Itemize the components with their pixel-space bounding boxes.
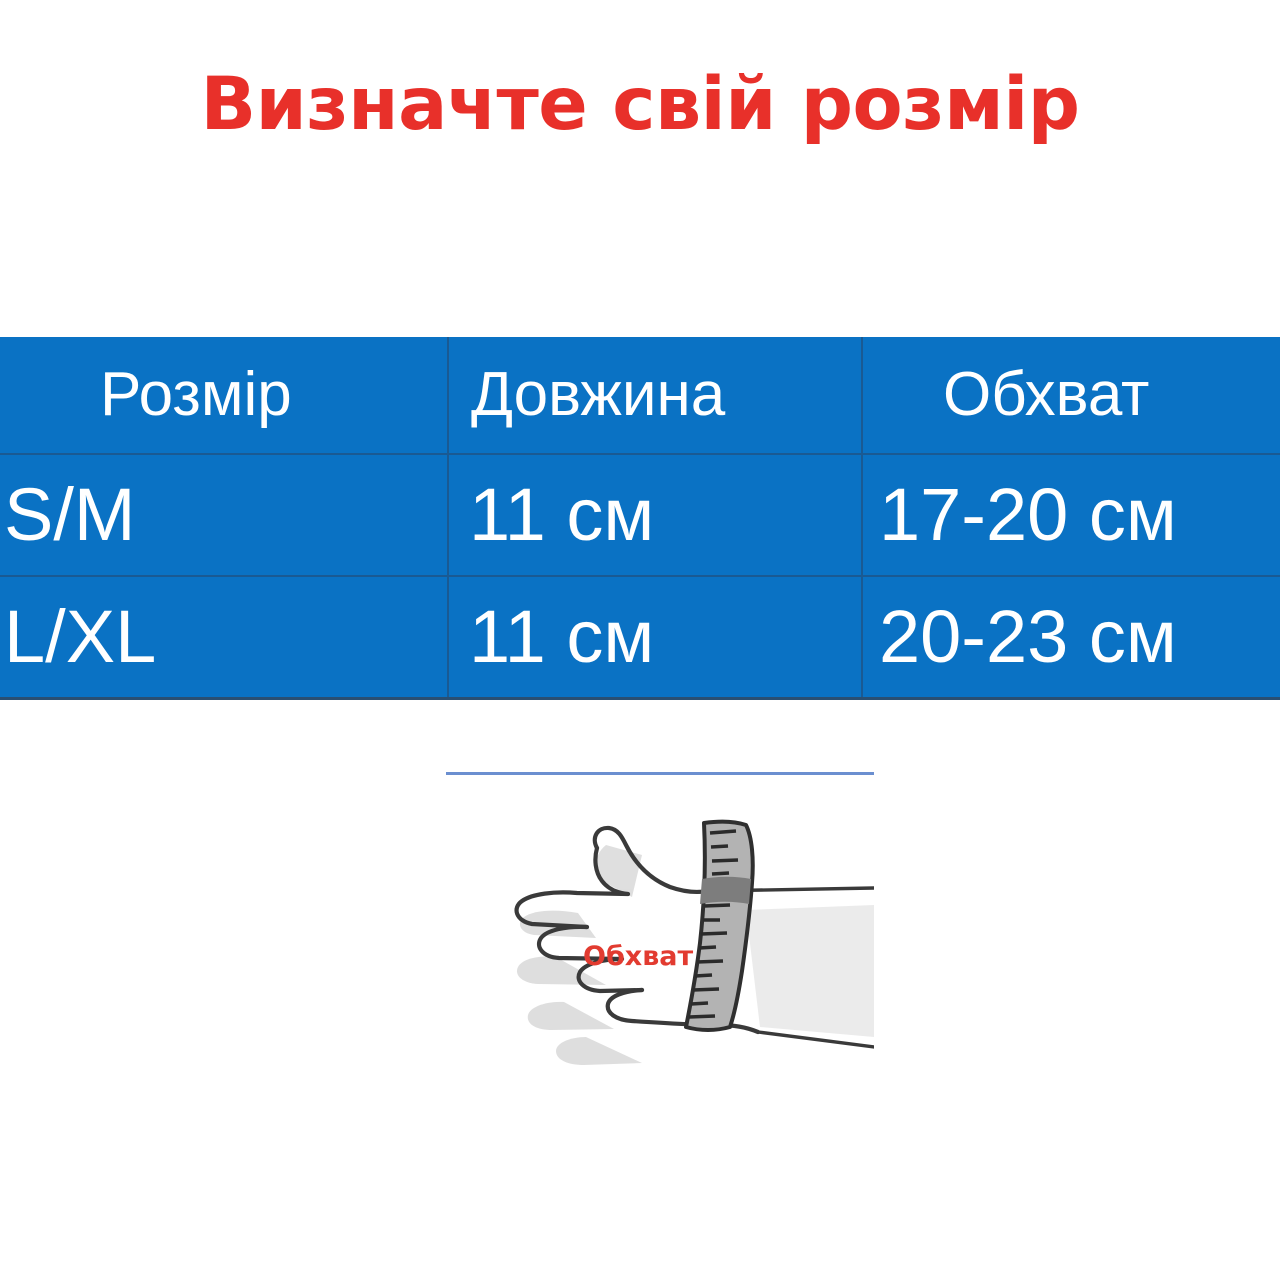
size-chart-table: Розмір Довжина Обхват S/M 11 см 17-20 см… <box>0 337 1280 700</box>
cell-length-sm: 11 см <box>448 454 862 576</box>
table-row: L/XL 11 см 20-23 см <box>0 576 1280 699</box>
table-header-row: Розмір Довжина Обхват <box>0 337 1280 454</box>
cell-size-lxl: L/XL <box>0 576 448 699</box>
page-title: Визначте свій розмір <box>0 62 1280 148</box>
column-header-size: Розмір <box>0 337 448 454</box>
cell-girth-lxl: 20-23 см <box>862 576 1280 699</box>
column-header-length: Довжина <box>448 337 862 454</box>
cell-size-sm: S/M <box>0 454 448 576</box>
column-header-girth: Обхват <box>862 337 1280 454</box>
hand-diagram-icon <box>446 775 874 1092</box>
cell-girth-sm: 17-20 см <box>862 454 1280 576</box>
measuring-tape <box>686 822 753 1030</box>
cell-length-lxl: 11 см <box>448 576 862 699</box>
hand-measurement-diagram <box>446 772 874 1092</box>
table-row: S/M 11 см 17-20 см <box>0 454 1280 576</box>
diagram-girth-label: Обхват <box>583 941 693 973</box>
